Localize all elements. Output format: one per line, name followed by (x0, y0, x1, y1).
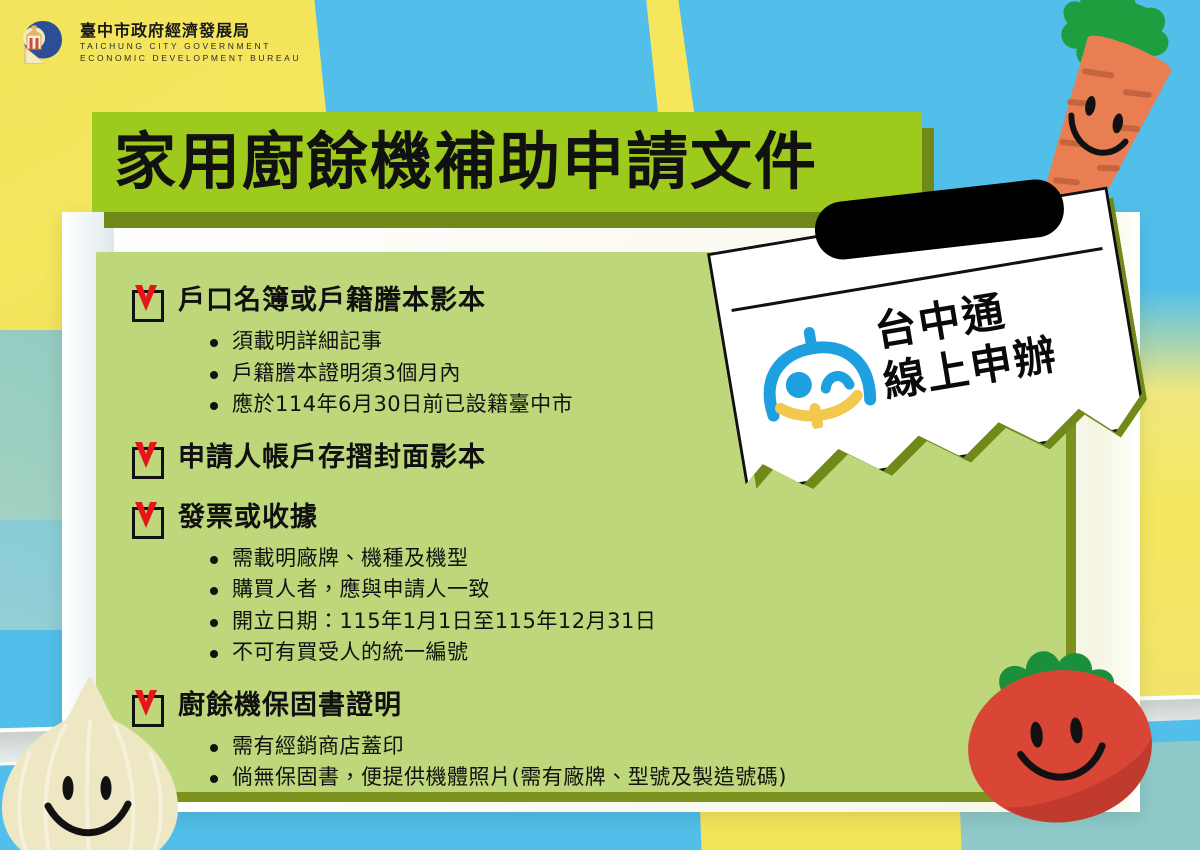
agency-logo-text: 臺中市政府經濟發展局 TAICHUNG CITY GOVERNMENT ECON… (80, 23, 301, 64)
list-item: 需有經銷商店蓋印 (206, 731, 1030, 763)
list-item: 不可有買受人的統一編號 (206, 637, 1030, 669)
ticket-card-text: 台中通 線上申辦 (871, 269, 1134, 406)
checklist-item-bullets: 需有經銷商店蓋印 倘無保固書，便提供機體照片(需有廠牌、型號及製造號碼) (206, 731, 1030, 794)
checklist-item-title: 申請人帳戶存摺封面影本 (178, 441, 486, 475)
smiling-garlic-icon (0, 672, 197, 850)
checkbox-checked-icon (132, 290, 164, 322)
checklist-item-title: 發票或收據 (178, 501, 318, 535)
page-title: 家用廚餘機補助申請文件 (92, 131, 818, 193)
title-banner: 家用廚餘機補助申請文件 (92, 112, 922, 212)
checklist-item-title: 廚餘機保固書證明 (178, 689, 402, 723)
agency-name-zh: 臺中市政府經濟發展局 (80, 23, 301, 40)
smiling-tomato-icon (955, 640, 1170, 835)
taichung-city-emblem-icon (16, 16, 70, 70)
poster-root: 臺中市政府經濟發展局 TAICHUNG CITY GOVERNMENT ECON… (0, 0, 1200, 850)
checklist-item: 廚餘機保固書證明 需有經銷商店蓋印 倘無保固書，便提供機體照片(需有廠牌、型號及… (132, 689, 1030, 794)
checklist-item-header: 發票或收據 (132, 501, 1030, 539)
checklist-item-title: 戶口名簿或戶籍謄本影本 (178, 284, 486, 318)
taichung-pass-robot-icon (750, 315, 884, 437)
list-item: 開立日期：115年1月1日至115年12月31日 (206, 606, 1030, 638)
list-item: 倘無保固書，便提供機體照片(需有廠牌、型號及製造號碼) (206, 762, 1030, 794)
checklist-item-header: 廚餘機保固書證明 (132, 689, 1030, 727)
list-item: 購買人者，應與申請人一致 (206, 574, 1030, 606)
checklist-item: 發票或收據 需載明廠牌、機種及機型 購買人者，應與申請人一致 開立日期：115年… (132, 501, 1030, 669)
list-item: 需載明廠牌、機種及機型 (206, 543, 1030, 575)
agency-logo: 臺中市政府經濟發展局 TAICHUNG CITY GOVERNMENT ECON… (16, 16, 301, 70)
agency-name-en-line2: ECONOMIC DEVELOPMENT BUREAU (80, 54, 301, 63)
checkbox-checked-icon (132, 447, 164, 479)
agency-name-en-line1: TAICHUNG CITY GOVERNMENT (80, 42, 301, 51)
checkbox-checked-icon (132, 507, 164, 539)
checklist-item-bullets: 需載明廠牌、機種及機型 購買人者，應與申請人一致 開立日期：115年1月1日至1… (206, 543, 1030, 669)
